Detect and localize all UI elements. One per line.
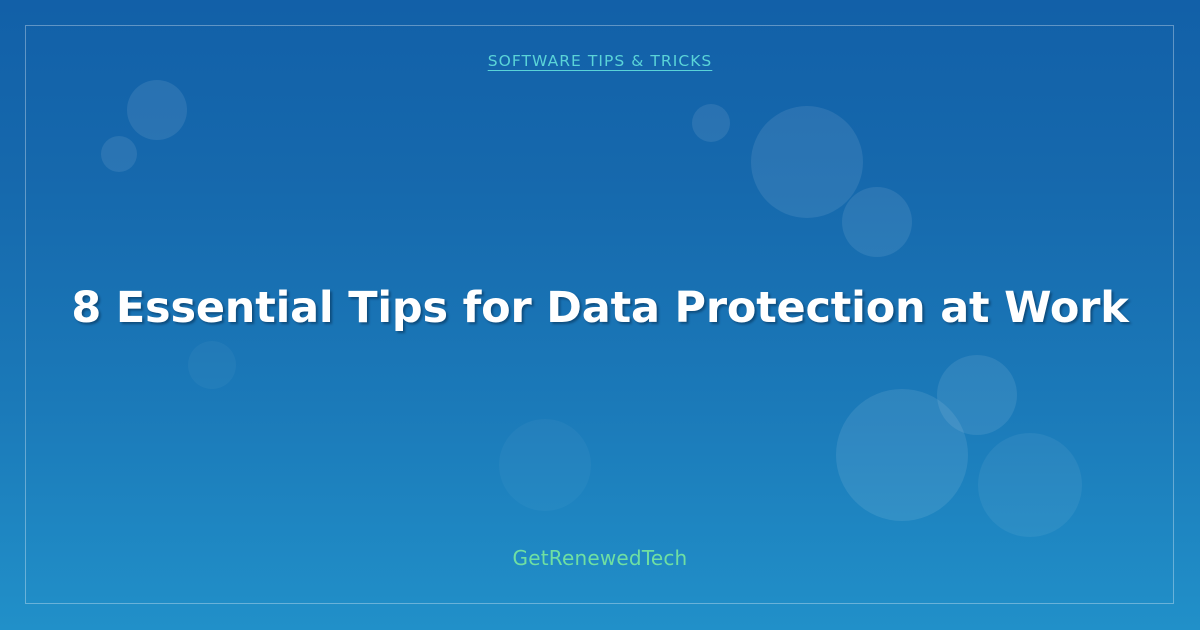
banner-content: SOFTWARE TIPS & TRICKS 8 Essential Tips … (0, 0, 1200, 630)
category-kicker: SOFTWARE TIPS & TRICKS (488, 52, 713, 71)
title-container: 8 Essential Tips for Data Protection at … (60, 71, 1140, 546)
brand-name: GetRenewedTech (513, 546, 688, 570)
social-share-banner: SOFTWARE TIPS & TRICKS 8 Essential Tips … (0, 0, 1200, 630)
page-title: 8 Essential Tips for Data Protection at … (71, 283, 1128, 334)
